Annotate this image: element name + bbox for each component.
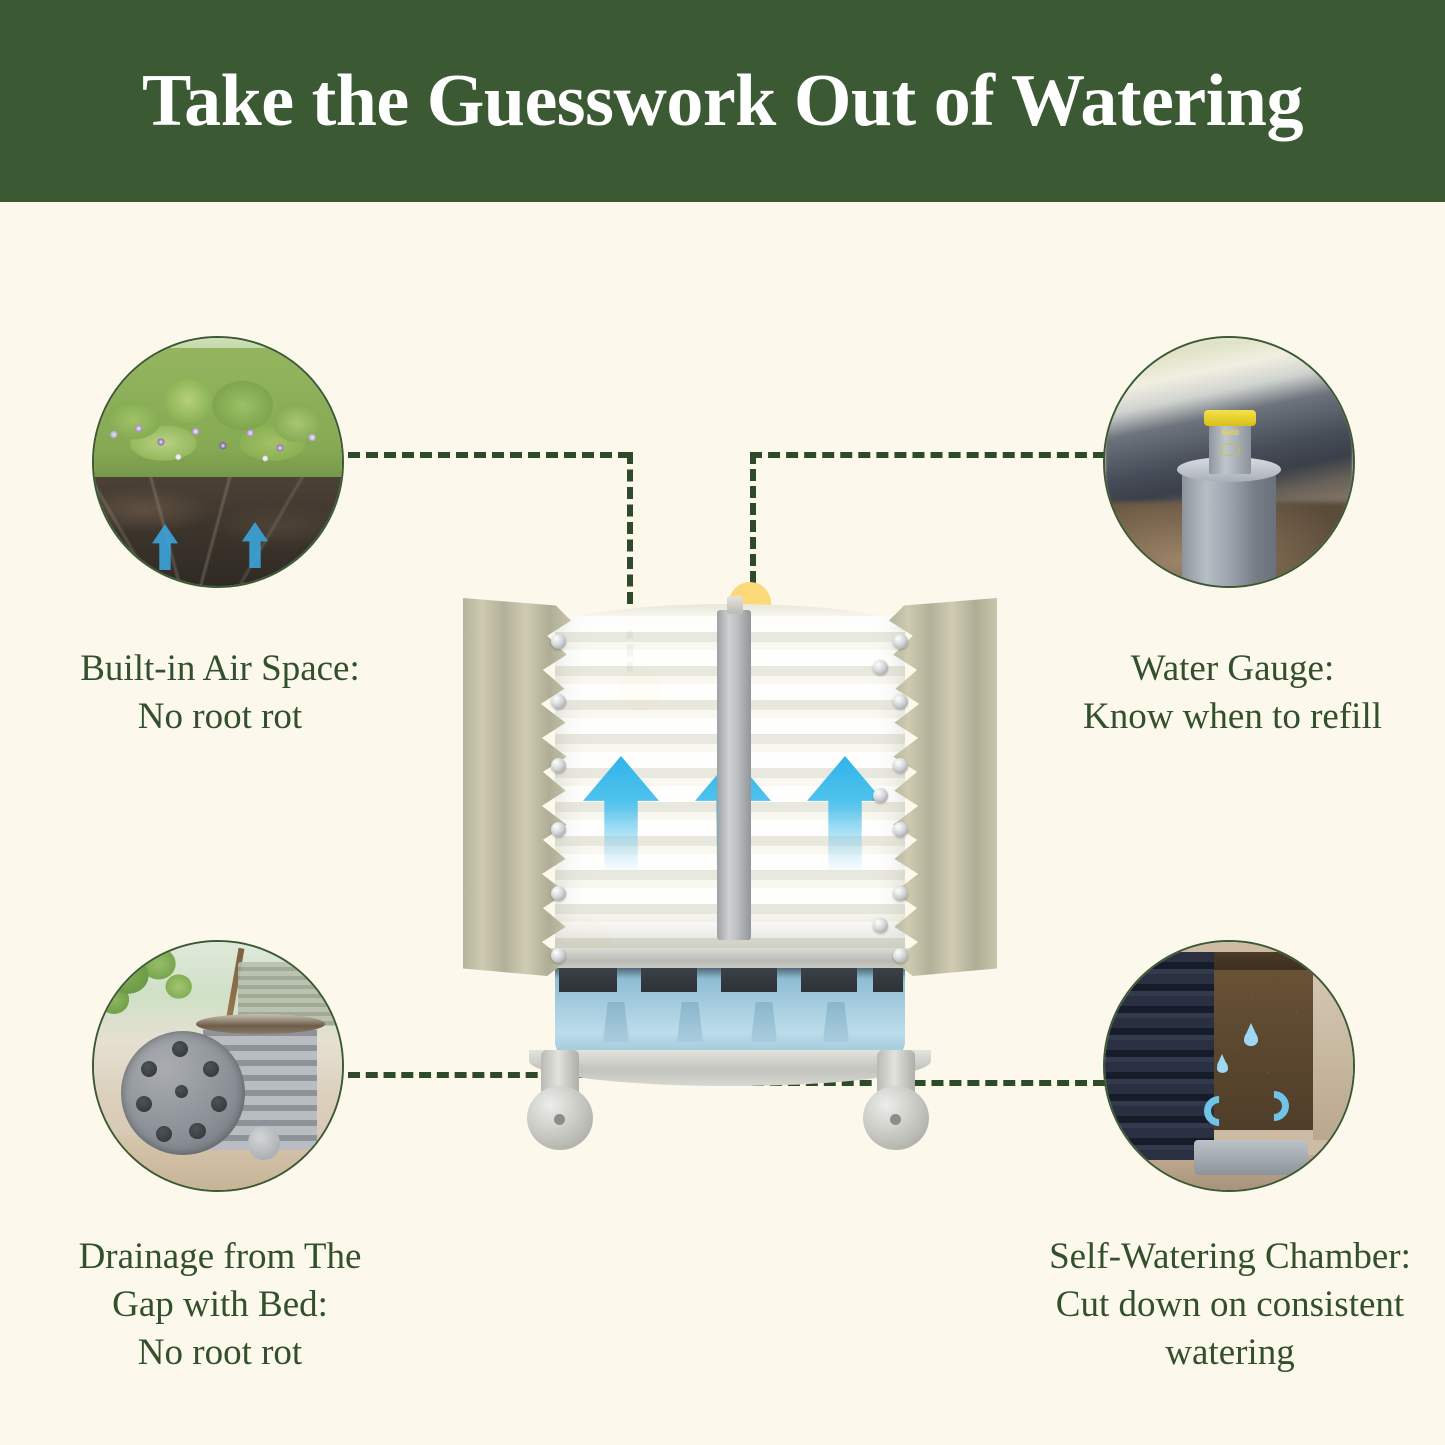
- wall-screw: [873, 918, 888, 933]
- wall-screw: [551, 948, 566, 963]
- corrugated-wall-left: [463, 598, 571, 976]
- drainage-hole: [189, 1123, 205, 1139]
- connector-water-gauge-vertical: [750, 452, 756, 600]
- drainage-hole-center: [175, 1085, 189, 1099]
- label-drainage-title-line1: Drainage from The: [30, 1233, 410, 1281]
- water-gauge-tube-cap: [727, 596, 743, 614]
- flower-cluster: [94, 412, 342, 486]
- wall-screw: [893, 758, 908, 773]
- drainage-hole: [211, 1096, 227, 1112]
- corrugated-dark-wall: [1105, 952, 1214, 1160]
- label-self-watering: Self-Watering Chamber: Cut down on consi…: [1020, 1233, 1440, 1377]
- reservoir-fin: [751, 1002, 777, 1042]
- wall-screw: [873, 660, 888, 675]
- photo-water-gauge: Refill: [1103, 336, 1355, 588]
- page-title: Take the Guesswork Out of Watering: [142, 59, 1303, 144]
- reservoir-fin: [823, 1002, 849, 1042]
- label-drainage-title-line2: Gap with Bed:: [30, 1281, 410, 1329]
- drainage-hole: [172, 1041, 188, 1057]
- gauge-refill-cap: [1204, 410, 1256, 426]
- wall-screw: [551, 694, 566, 709]
- soil-surface: [1214, 952, 1313, 970]
- wall-screw: [873, 788, 888, 803]
- label-self-watering-subtitle-line2: watering: [1020, 1329, 1440, 1377]
- label-water-gauge-subtitle: Know when to refill: [1035, 693, 1430, 741]
- reservoir-fin: [677, 1002, 703, 1042]
- photo-drainage-base: [92, 940, 344, 1192]
- water-droplet-icon: [1244, 1031, 1258, 1046]
- planter-caster: [248, 1126, 280, 1161]
- planter-soil-rim: [196, 1014, 325, 1034]
- wall-screw: [551, 758, 566, 773]
- connector-water-gauge-horizontal: [750, 452, 1105, 458]
- wall-screw: [893, 634, 908, 649]
- photo-garden-bed-airflow: [92, 336, 344, 588]
- caster-wheel-right: [863, 1050, 929, 1150]
- drainage-hole: [136, 1096, 152, 1112]
- water-reservoir-chamber: [555, 968, 905, 1058]
- label-self-watering-subtitle-line1: Cut down on consistent: [1020, 1281, 1440, 1329]
- drainage-hole: [203, 1061, 219, 1077]
- wall-screw: [551, 822, 566, 837]
- label-drainage-subtitle: No root rot: [30, 1329, 410, 1377]
- wall-screw: [551, 634, 566, 649]
- drainage-base-disc: [121, 1031, 245, 1155]
- background-right-edge: [1313, 957, 1353, 1141]
- wall-screw: [893, 694, 908, 709]
- product-cutaway-illustration: [455, 588, 1005, 1148]
- reservoir-shelf: [547, 948, 913, 970]
- chamber-base: [1194, 1140, 1308, 1175]
- gauge-indicator-ring: [1220, 443, 1240, 455]
- gauge-cylinder-body: [1182, 467, 1276, 588]
- label-drainage: Drainage from The Gap with Bed: No root …: [30, 1233, 410, 1377]
- label-air-space-subtitle: No root rot: [30, 693, 410, 741]
- label-air-space-title: Built-in Air Space:: [30, 645, 410, 693]
- corrugated-wall-right: [889, 598, 997, 976]
- drainage-hole: [156, 1126, 172, 1142]
- photo-self-watering-chamber: [1103, 940, 1355, 1192]
- label-water-gauge-title: Water Gauge:: [1035, 645, 1430, 693]
- drainage-hole: [141, 1061, 157, 1077]
- wall-screw: [893, 948, 908, 963]
- water-droplet-icon: [1217, 1061, 1228, 1073]
- header-banner: Take the Guesswork Out of Watering: [0, 0, 1445, 202]
- water-gauge-tube: [717, 610, 751, 940]
- wall-screw: [551, 886, 566, 901]
- caster-wheel-left: [527, 1050, 593, 1150]
- label-air-space: Built-in Air Space: No root rot: [30, 645, 410, 741]
- label-water-gauge: Water Gauge: Know when to refill: [1035, 645, 1430, 741]
- wall-screw: [893, 886, 908, 901]
- gauge-refill-label: Refill: [1209, 430, 1251, 437]
- connector-air-space-horizontal: [348, 452, 630, 458]
- label-self-watering-title: Self-Watering Chamber:: [1020, 1233, 1440, 1281]
- reservoir-fin: [603, 1002, 629, 1042]
- infographic-page: Take the Guesswork Out of Watering: [0, 0, 1445, 1445]
- wall-screw: [893, 822, 908, 837]
- root-network: [94, 477, 342, 586]
